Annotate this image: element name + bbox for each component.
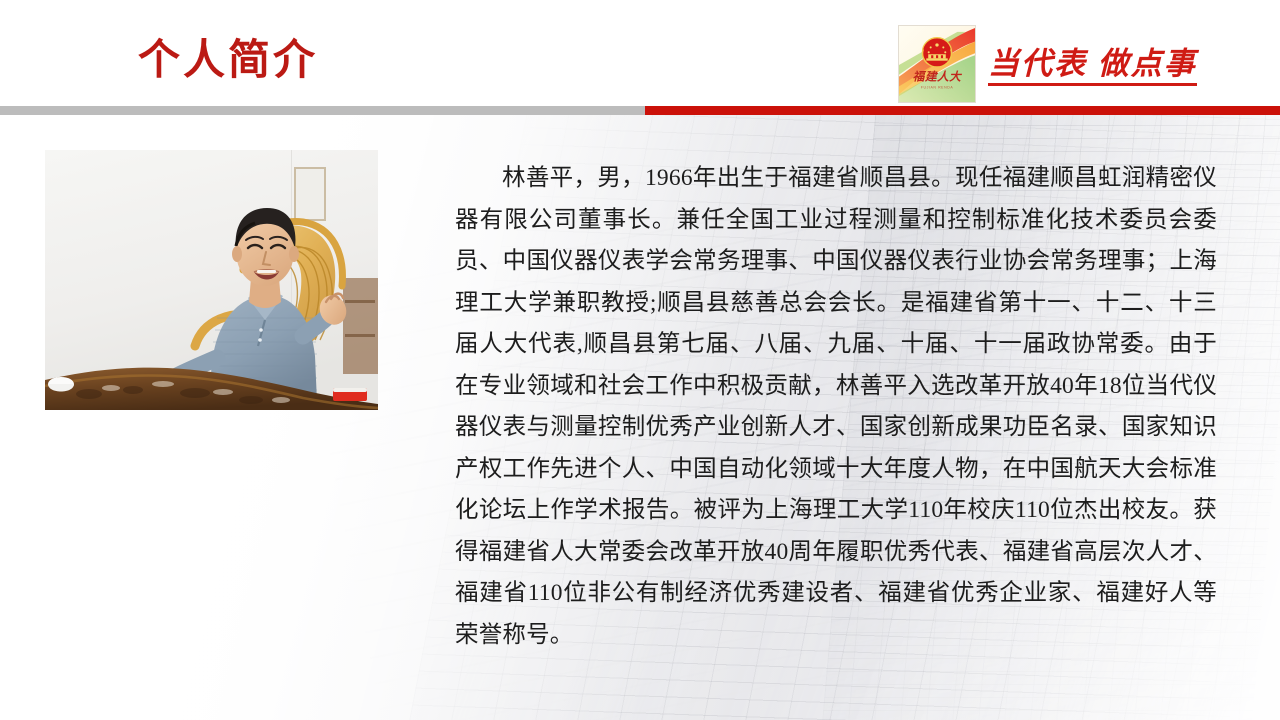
divider-gray-segment <box>0 106 645 115</box>
portrait-photo <box>45 150 378 410</box>
biography-paragraph: 林善平，男，1966年出生于福建省顺昌县。现任福建顺昌虹润精密仪器有限公司董事长… <box>455 158 1217 656</box>
page-title: 个人简介 <box>138 40 318 82</box>
slide-root: 个人简介 <box>0 0 1280 720</box>
svg-text:FUJIAN RENDA: FUJIAN RENDA <box>921 85 954 89</box>
slide-header: 个人简介 <box>0 0 1280 106</box>
svg-text:福建人大: 福建人大 <box>913 70 963 84</box>
slogan-text: 当代表 做点事 <box>988 48 1197 86</box>
header-divider <box>0 106 1280 115</box>
biography-text-block: 林善平，男，1966年出生于福建省顺昌县。现任福建顺昌虹润精密仪器有限公司董事长… <box>455 158 1217 656</box>
fujian-renda-emblem-logo: 福建人大 FUJIAN RENDA <box>898 25 976 103</box>
divider-red-segment <box>645 106 1280 115</box>
